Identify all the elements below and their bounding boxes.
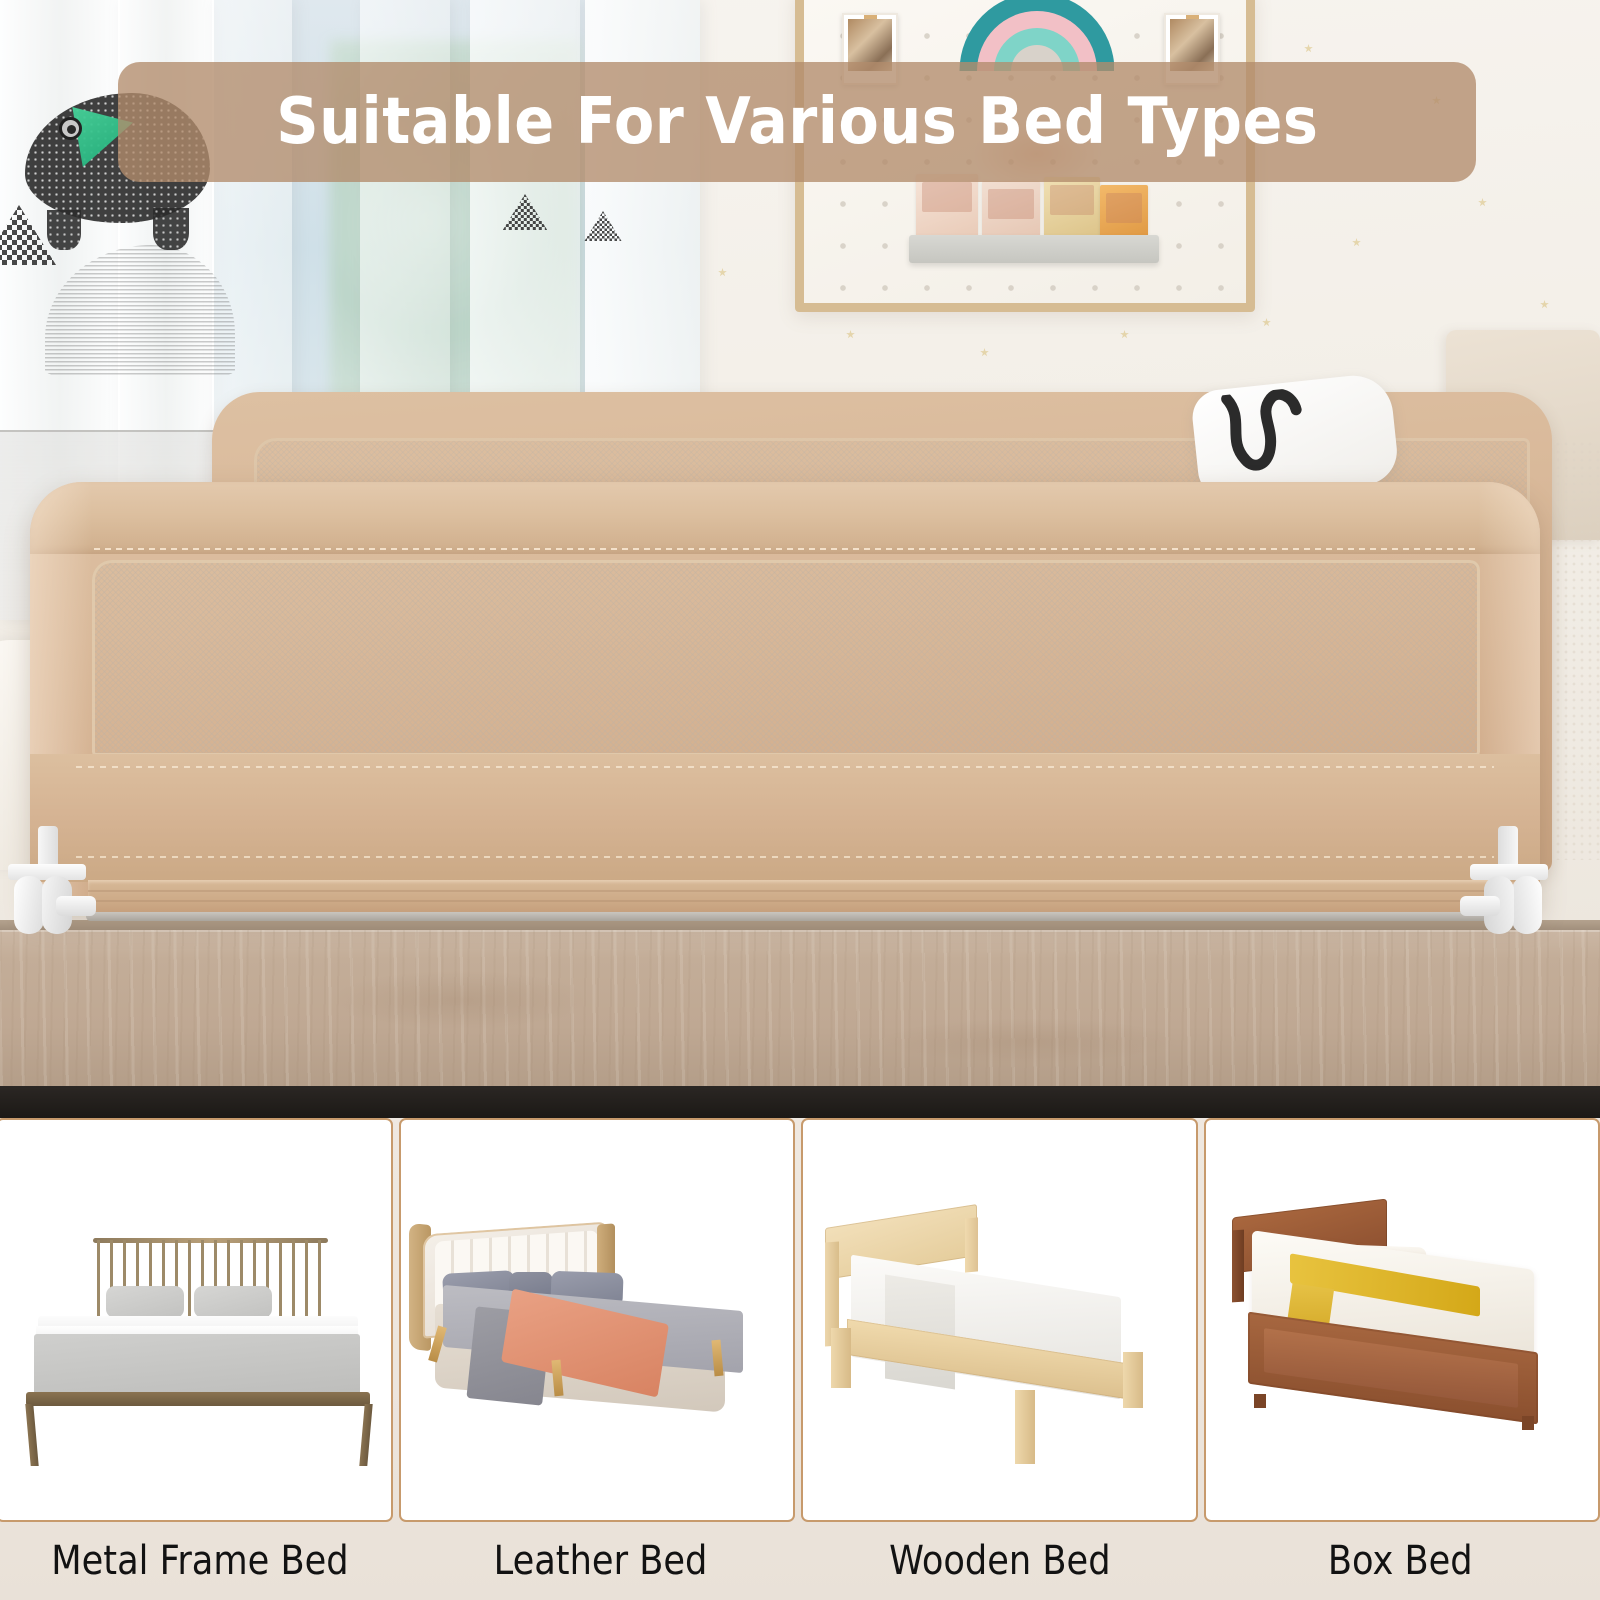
rail-top-bar [30, 482, 1540, 554]
label-cell-wooden-bed: Wooden Bed [800, 1522, 1200, 1600]
bed-leg [1123, 1352, 1143, 1408]
thumbnail-wooden-bed[interactable] [801, 1118, 1198, 1522]
picture-book [1100, 185, 1148, 236]
label-cell-box-bed: Box Bed [1200, 1522, 1600, 1600]
product-marketing-image: Suitable For Various Bed Types [0, 0, 1600, 1600]
bed-leg [831, 1328, 851, 1388]
headboard-wing [597, 1223, 615, 1278]
bed-type-label: Metal Frame Bed [51, 1538, 348, 1584]
mounting-clamp-right [1470, 826, 1548, 938]
mounting-clamp-left [8, 826, 86, 938]
thumbnail-box-bed[interactable] [1204, 1118, 1600, 1522]
label-cell-leather-bed: Leather Bed [400, 1522, 800, 1600]
bed-leg [359, 1404, 372, 1466]
hero-product-photo: Suitable For Various Bed Types [0, 0, 1600, 1118]
thumbnail-metal-frame-bed[interactable] [0, 1118, 393, 1522]
rail-lower-fabric [30, 754, 1540, 882]
bed-type-strip: Metal Frame Bed Leather Bed Wooden Bed B… [0, 1118, 1600, 1600]
bed-foot [1522, 1416, 1534, 1430]
bed-leg [25, 1404, 38, 1466]
headboard-post [965, 1217, 978, 1272]
thumbnail-leather-bed[interactable] [399, 1118, 796, 1522]
bed-type-label: Leather Bed [493, 1538, 707, 1584]
headline-text: Suitable For Various Bed Types [276, 85, 1318, 159]
front-bed-rail [30, 482, 1540, 912]
rail-base-rod [86, 912, 1500, 921]
picture-book [982, 181, 1040, 236]
label-cell-metal-frame-bed: Metal Frame Bed [0, 1522, 400, 1600]
pine-bed [825, 1202, 1165, 1448]
bed-type-label: Box Bed [1328, 1538, 1473, 1584]
bed-type-labels: Metal Frame Bed Leather Bed Wooden Bed B… [0, 1522, 1600, 1600]
squiggle-icon [1212, 387, 1311, 488]
pillow [106, 1286, 184, 1318]
walnut-box-bed [1232, 1208, 1562, 1454]
headline-banner: Suitable For Various Bed Types [118, 62, 1476, 182]
picture-book [916, 174, 978, 236]
bed-foot [1254, 1394, 1266, 1408]
rainbow-stacker-icon [959, 0, 1114, 71]
picture-book [1044, 177, 1100, 236]
bed-leg [1015, 1390, 1035, 1464]
wooden-bed-base [0, 930, 1600, 1090]
headboard-side [1232, 1230, 1244, 1303]
bed-type-thumbnails [0, 1118, 1600, 1522]
bed-type-label: Wooden Bed [889, 1538, 1110, 1584]
blanket [34, 1334, 360, 1396]
bed-frame [26, 1392, 370, 1406]
under-bed-shadow [0, 1086, 1600, 1118]
rail-mesh-panel [92, 560, 1480, 756]
pillow [194, 1286, 272, 1318]
book-ledge-shelf [909, 235, 1159, 263]
